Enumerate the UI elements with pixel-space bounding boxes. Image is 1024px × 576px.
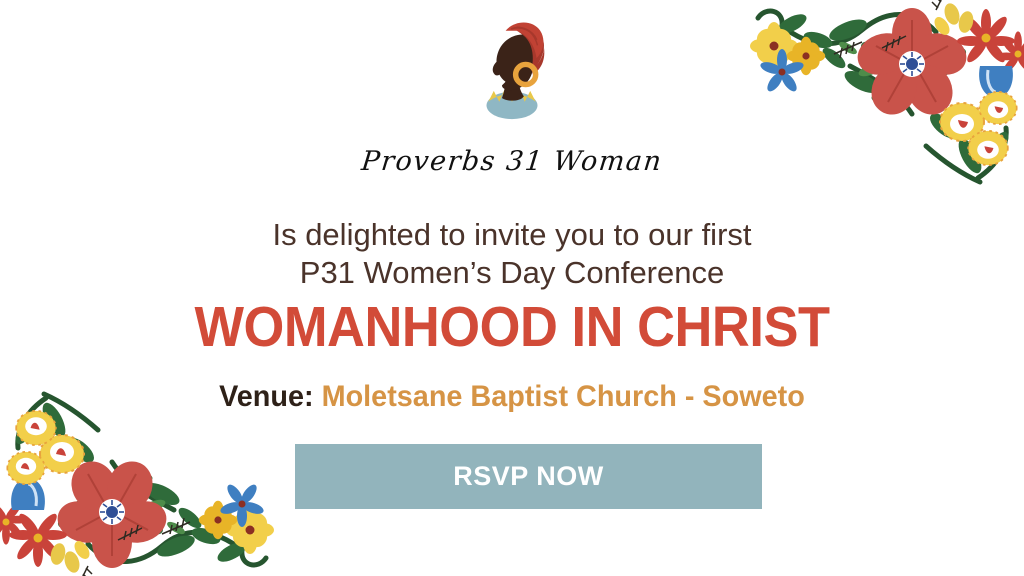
venue-value: Moletsane Baptist Church - Soweto	[322, 380, 805, 413]
fern-sprigs	[80, 518, 190, 576]
blue-bell-flower	[11, 478, 45, 510]
logo-container	[0, 18, 1024, 125]
floral-small-leaves	[93, 493, 186, 537]
script-tagline: Proverbs 31 Woman	[0, 146, 1024, 177]
invitation-flyer: Proverbs 31 Woman Is delighted to invite…	[0, 0, 1024, 576]
african-woman-profile-logo	[471, 18, 553, 120]
neck-and-face	[493, 34, 534, 100]
invitation-line-1: Is delighted to invite you to our first	[0, 216, 1024, 254]
page-title: WOMANHOOD IN CHRIST	[41, 296, 983, 358]
red-daisy-cluster	[0, 501, 67, 567]
yellow-daisy-cluster	[199, 501, 274, 554]
large-red-bloom	[52, 454, 173, 568]
yellow-bud-cluster	[49, 538, 93, 574]
venue-line: Venue: Moletsane Baptist Church - Soweto	[20, 378, 1003, 416]
invitation-text: Is delighted to invite you to our first …	[0, 216, 1024, 292]
rsvp-now-button[interactable]: RSVP NOW	[295, 444, 762, 509]
blue-star-flower	[219, 482, 265, 527]
floral-leaves	[12, 399, 250, 565]
venue-label: Venue:	[219, 380, 313, 413]
lady-slipper-flowers	[7, 411, 84, 484]
invitation-line-2: P31 Women’s Day Conference	[0, 254, 1024, 292]
floral-stems	[18, 394, 266, 565]
